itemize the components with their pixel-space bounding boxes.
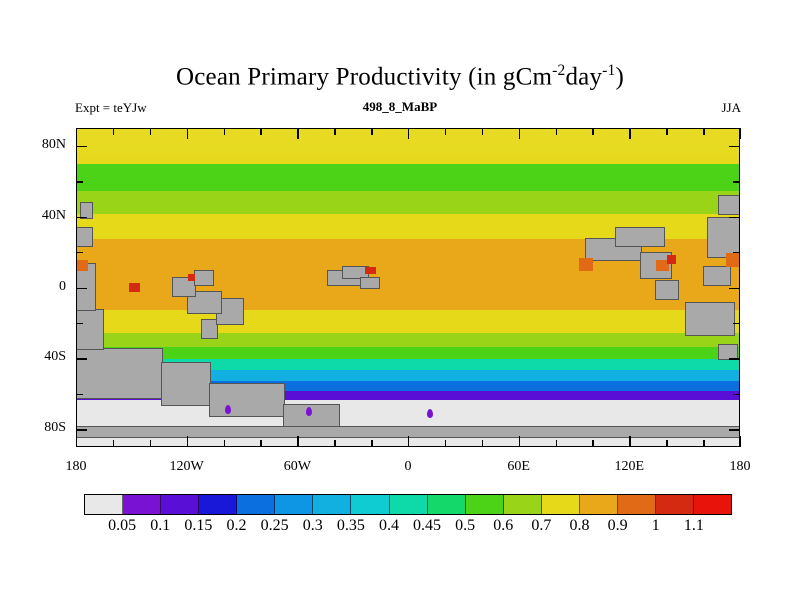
colorbar-swatch xyxy=(466,495,504,514)
y-axis-tick xyxy=(76,252,83,253)
figure-canvas: Ocean Primary Productivity (in gCm-2day-… xyxy=(0,0,800,600)
colorbar-swatch xyxy=(123,495,161,514)
x-axis-label: 0 xyxy=(368,459,448,475)
x-axis-tick xyxy=(187,436,188,447)
x-axis-tick xyxy=(666,440,667,447)
y-axis-tick xyxy=(733,394,740,395)
colorbar-swatch xyxy=(618,495,656,514)
x-axis-tick xyxy=(482,128,483,135)
y-axis-label: 0 xyxy=(20,279,66,295)
upwelling-hotspot xyxy=(188,274,195,281)
landmass xyxy=(719,345,737,359)
landmass xyxy=(81,203,92,217)
x-axis-tick xyxy=(260,128,261,135)
colorbar-swatch xyxy=(428,495,466,514)
y-axis-tick xyxy=(76,394,83,395)
colorbar-swatch xyxy=(542,495,580,514)
landmass xyxy=(719,196,740,214)
colorbar-swatch xyxy=(580,495,618,514)
title-text: Ocean Primary Productivity (in gCm xyxy=(176,63,552,90)
title-exponent-1: -2 xyxy=(552,62,565,79)
x-axis-tick xyxy=(150,128,151,135)
x-axis-tick xyxy=(519,436,520,447)
landmass xyxy=(361,278,379,289)
x-axis-label: 180 xyxy=(700,459,780,475)
x-axis-tick xyxy=(297,128,298,139)
landmass xyxy=(210,384,284,416)
title-text-mid: day xyxy=(565,63,602,90)
y-axis-tick xyxy=(76,358,87,359)
colorbar-swatch xyxy=(313,495,351,514)
colorbar-tick-label: 1.1 xyxy=(664,517,724,535)
y-axis-tick xyxy=(729,217,740,218)
colorbar-swatch xyxy=(390,495,428,514)
y-axis-tick xyxy=(733,252,740,253)
x-axis-tick xyxy=(408,436,409,447)
landmass xyxy=(202,320,217,338)
y-axis-label: 40S xyxy=(20,349,66,365)
productivity-minimum-blob xyxy=(225,405,231,414)
x-axis-tick xyxy=(592,440,593,447)
x-axis-tick xyxy=(629,436,630,447)
x-axis-tick xyxy=(76,128,77,139)
x-axis-tick xyxy=(482,440,483,447)
x-axis-tick xyxy=(445,128,446,135)
x-axis-label: 120E xyxy=(589,459,669,475)
y-axis-tick xyxy=(76,429,87,430)
x-axis-tick xyxy=(334,128,335,135)
x-axis-tick xyxy=(556,128,557,135)
x-axis-tick xyxy=(445,440,446,447)
x-axis-tick xyxy=(371,440,372,447)
y-axis-tick xyxy=(76,323,83,324)
colorbar-tick-labels: 0.050.10.150.20.250.30.350.40.450.50.60.… xyxy=(84,517,732,539)
colorbar-swatch xyxy=(351,495,389,514)
upwelling-hotspot xyxy=(365,267,376,274)
x-axis-tick xyxy=(371,128,372,135)
x-axis-tick xyxy=(592,128,593,135)
landmass xyxy=(77,228,92,246)
colorbar-swatch xyxy=(85,495,123,514)
upwelling-hotspot xyxy=(579,258,594,270)
y-axis-tick xyxy=(76,181,83,182)
colorbar-swatch xyxy=(199,495,237,514)
x-axis-tick xyxy=(740,436,741,447)
colorbar xyxy=(84,494,732,515)
x-axis-tick xyxy=(556,440,557,447)
title-text-end: ) xyxy=(615,63,624,90)
x-axis-tick xyxy=(408,128,409,139)
y-axis-tick xyxy=(729,358,740,359)
y-axis-label: 80S xyxy=(20,420,66,436)
productivity-minimum-blob xyxy=(306,407,312,416)
season-label: JJA xyxy=(0,100,741,116)
x-axis-tick xyxy=(150,440,151,447)
landmass xyxy=(77,349,162,399)
x-axis-tick xyxy=(224,128,225,135)
colorbar-swatch xyxy=(656,495,694,514)
x-axis-tick xyxy=(666,128,667,135)
colorbar-swatch xyxy=(504,495,542,514)
upwelling-hotspot xyxy=(726,253,740,267)
landmass xyxy=(708,218,740,257)
x-axis-tick xyxy=(519,128,520,139)
y-axis-tick xyxy=(733,323,740,324)
y-axis-label: 40N xyxy=(20,208,66,224)
y-axis-tick xyxy=(729,429,740,430)
landmass xyxy=(217,299,243,324)
y-axis-label: 80N xyxy=(20,137,66,153)
y-axis-tick xyxy=(729,288,740,289)
landmass xyxy=(616,228,664,246)
upwelling-hotspot xyxy=(129,283,140,292)
colorbar-swatch xyxy=(275,495,313,514)
landmass xyxy=(656,281,678,299)
x-axis-label: 120W xyxy=(147,459,227,475)
x-axis-label: 180 xyxy=(36,459,116,475)
upwelling-hotspot xyxy=(77,260,88,271)
y-axis-tick xyxy=(76,146,87,147)
upwelling-hotspot xyxy=(667,255,676,264)
x-axis-tick xyxy=(334,440,335,447)
landmass xyxy=(686,303,734,335)
title-exponent-2: -1 xyxy=(602,62,615,79)
colorbar-swatch xyxy=(161,495,199,514)
y-axis-tick xyxy=(76,217,87,218)
landmass xyxy=(195,271,213,285)
x-axis-label: 60E xyxy=(479,459,559,475)
y-axis-tick xyxy=(729,146,740,147)
x-axis-tick xyxy=(629,128,630,139)
y-axis-tick xyxy=(733,181,740,182)
x-axis-tick xyxy=(76,436,77,447)
colorbar-swatch xyxy=(237,495,275,514)
x-axis-tick xyxy=(297,436,298,447)
landmass xyxy=(704,267,730,285)
x-axis-tick xyxy=(187,128,188,139)
x-axis-tick xyxy=(113,128,114,135)
x-axis-label: 60W xyxy=(257,459,337,475)
colorbar-swatch xyxy=(694,495,731,514)
landmass xyxy=(162,363,210,406)
x-axis-tick xyxy=(113,440,114,447)
landmass xyxy=(77,310,103,349)
x-axis-tick xyxy=(740,128,741,139)
x-axis-tick xyxy=(260,440,261,447)
x-axis-tick xyxy=(703,128,704,135)
map-plot-area xyxy=(76,128,740,447)
x-axis-tick xyxy=(703,440,704,447)
page-title: Ocean Primary Productivity (in gCm-2day-… xyxy=(0,62,800,91)
y-axis-tick xyxy=(76,288,87,289)
x-axis-tick xyxy=(224,440,225,447)
